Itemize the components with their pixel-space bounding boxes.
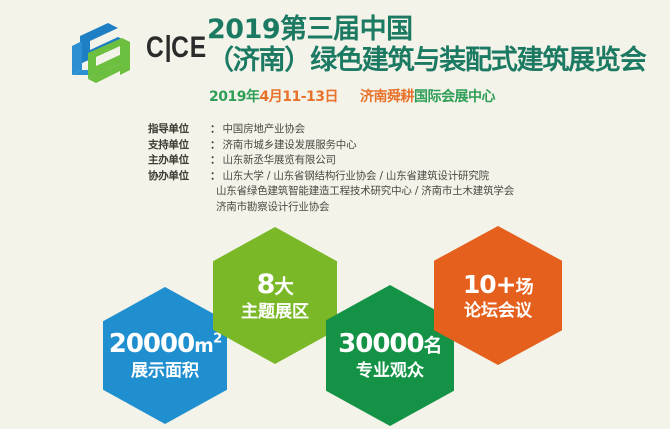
organizer-value: 中国房地产业协会 — [223, 122, 569, 138]
stat-hexagon-theme-zones: 8大 主题展区 — [213, 227, 337, 364]
date-year: 2019年 — [209, 89, 259, 105]
organizer-row: 指导单位 ： 中国房地产业协会 — [148, 122, 568, 138]
stats-hexagon-group: 20000m2 展示面积 8大 主题展区 30000名 专业观众 10+场 论坛… — [0, 228, 670, 429]
stat-label-exhibition-area: 展示面积 — [131, 363, 199, 380]
stat-label-theme-zones: 主题展区 — [241, 304, 309, 321]
organizer-continuation-line: 山东省绿色建筑智能建造工程技术研究中心 / 济南市土木建筑学会 — [216, 184, 568, 200]
venue-city: 济南舜耕 — [360, 89, 414, 105]
stat-number-professional-visitors: 30000名 — [338, 331, 442, 357]
organizer-continuation-line: 济南市勘察设计行业协会 — [216, 200, 568, 216]
organizer-label: 支持单位 — [148, 138, 210, 154]
organizer-label: 协办单位 — [148, 169, 210, 185]
date-and-venue: 2019年4月11-13日济南舜耕国际会展中心 — [209, 86, 495, 106]
stat-unit: 场 — [516, 277, 534, 298]
organizer-colon: ： — [210, 153, 221, 169]
wordmark-divider — [166, 35, 169, 62]
stat-unit: m — [194, 336, 213, 357]
stat-label-forum-meetings: 论坛会议 — [464, 303, 532, 320]
poster-header: C CE 2019第三届中国 （济南）绿色建筑与装配式建筑展览会 2019年4月… — [0, 0, 670, 115]
organizer-row: 支持单位 ： 济南市城乡建设发展服务中心 — [148, 138, 568, 154]
title-line-1: 2019第三届中国 — [207, 16, 657, 44]
organizer-colon: ： — [210, 169, 221, 185]
stat-hexagon-exhibition-area: 20000m2 展示面积 — [103, 287, 227, 424]
event-poster: C CE 2019第三届中国 （济南）绿色建筑与装配式建筑展览会 2019年4月… — [0, 0, 670, 429]
organizer-label: 指导单位 — [148, 122, 210, 138]
organizer-value: 山东新丞华展览有限公司 — [223, 153, 569, 169]
date-range: 4月11-13日 — [259, 89, 338, 105]
stat-label-professional-visitors: 专业观众 — [356, 363, 424, 380]
organizer-value: 济南市城乡建设发展服务中心 — [223, 138, 569, 154]
organizer-label: 主办单位 — [148, 153, 210, 169]
organizer-row: 主办单位 ： 山东新丞华展览有限公司 — [148, 153, 568, 169]
stat-unit: 大 — [274, 275, 293, 298]
organizer-row: 协办单位 ： 山东大学 / 山东省钢结构行业协会 / 山东省建筑设计研究院 — [148, 169, 568, 185]
wordmark-c: C — [146, 33, 165, 63]
poster-title: 2019第三届中国 （济南）绿色建筑与装配式建筑展览会 — [207, 16, 657, 76]
organizer-colon: ： — [210, 122, 221, 138]
wordmark-ce: CE — [171, 33, 207, 63]
title-line-2: （济南）绿色建筑与装配式建筑展览会 — [207, 47, 657, 75]
venue-name: 国际会展中心 — [414, 89, 495, 105]
stat-unit: 名 — [424, 336, 442, 357]
cice-wordmark: C CE — [146, 33, 207, 63]
organizer-value: 山东大学 / 山东省钢结构行业协会 / 山东省建筑设计研究院 — [223, 169, 569, 185]
cice-logo-icon — [66, 20, 134, 86]
stat-number-forum-meetings: 10+场 — [463, 272, 533, 297]
organizer-list: 指导单位 ： 中国房地产业协会 支持单位 ： 济南市城乡建设发展服务中心 主办单… — [148, 122, 568, 215]
stat-number-theme-zones: 8大 — [257, 271, 294, 298]
stat-number-exhibition-area: 20000m2 — [109, 331, 222, 357]
organizer-colon: ： — [210, 138, 221, 154]
